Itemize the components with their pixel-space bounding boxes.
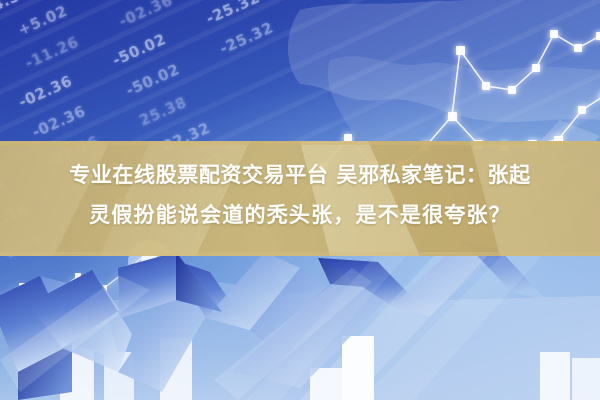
- headline-block: 专业在线股票配资交易平台 吴邪私家笔记：张起 灵假扮能说会道的秃头张，是不是很夸…: [0, 155, 600, 235]
- headline-line-1: 专业在线股票配资交易平台 吴邪私家笔记：张起: [0, 155, 600, 195]
- stock-finance-banner: 21.15 45.02 4.36 -06.35 -11.25 +5.02 10.…: [0, 0, 600, 400]
- headline-line-2: 灵假扮能说会道的秃头张，是不是很夸张？: [0, 195, 600, 235]
